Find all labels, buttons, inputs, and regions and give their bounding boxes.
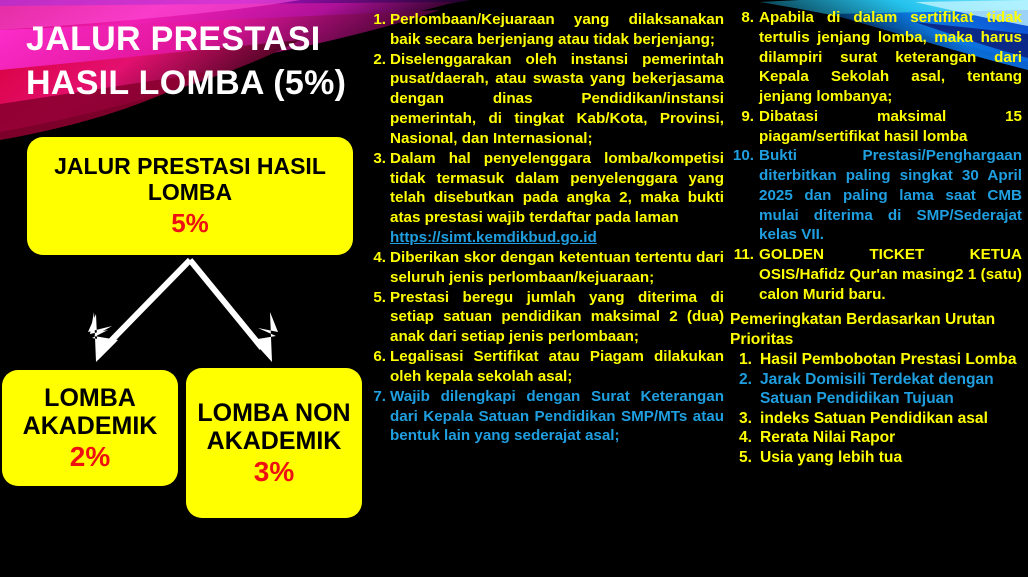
- list-item-text: Diberikan skor dengan ketentuan tertentu…: [390, 248, 724, 288]
- list-item-number: 3.: [368, 149, 386, 169]
- flow-box-lomba-non-akademik[interactable]: LOMBA NON AKADEMIK 3%: [186, 368, 362, 518]
- flow-box-root-label: JALUR PRESTASI HASIL LOMBA: [41, 154, 339, 206]
- list-item: 1. Perlombaan/Kejuaraan yang dilaksanaka…: [368, 10, 724, 50]
- list-item-number: 11.: [730, 245, 754, 265]
- requirements-list-column-2: 8. Apabila di dalam sertifikat tidak ter…: [730, 8, 1022, 468]
- list-item: 7. Wajib dilengkapi dengan Surat Keteran…: [368, 387, 724, 446]
- list-item: 2. Diselenggarakan oleh instansi pemerin…: [368, 50, 724, 149]
- priority-ranking-heading: Pemeringkatan Berdasarkan Urutan Priorit…: [730, 310, 1022, 349]
- slide-canvas: JALUR PRESTASI HASIL LOMBA (5%) JALUR PR…: [0, 0, 1028, 577]
- priority-list-item: 4. Rerata Nilai Rapor: [730, 428, 1022, 448]
- simt-kemdikbud-link[interactable]: https://simt.kemdikbud.go.id: [390, 228, 724, 248]
- list-item-text: Wajib dilengkapi dengan Surat Keterangan…: [390, 387, 724, 446]
- priority-list-item-number: 3.: [730, 409, 752, 429]
- list-item: 3. Dalam hal penyelenggara lomba/kompeti…: [368, 149, 724, 248]
- list-item-number: 6.: [368, 347, 386, 367]
- flow-box-root[interactable]: JALUR PRESTASI HASIL LOMBA 5%: [27, 137, 353, 255]
- title-line-1: JALUR PRESTASI: [26, 18, 366, 62]
- list-item-text: Bukti Prestasi/Penghargaan diterbitkan p…: [759, 146, 1022, 245]
- priority-list-item-text: Hasil Pembobotan Prestasi Lomba: [760, 350, 1022, 370]
- list-item-text: Prestasi beregu jumlah yang diterima di …: [390, 288, 724, 347]
- list-item-text: Diselenggarakan oleh instansi pemerintah…: [390, 50, 724, 149]
- flow-box-lomba-akademik-percent: 2%: [70, 442, 110, 473]
- list-item: 4. Diberikan skor dengan ketentuan terte…: [368, 248, 724, 288]
- list-item-text: Legalisasi Sertifikat atau Piagam dilaku…: [390, 347, 724, 387]
- page-title: JALUR PRESTASI HASIL LOMBA (5%): [26, 18, 366, 105]
- list-item: 6. Legalisasi Sertifikat atau Piagam dil…: [368, 347, 724, 387]
- list-item: 11. GOLDEN TICKET KETUA OSIS/Hafidz Qur'…: [730, 245, 1022, 304]
- list-item-number: 2.: [368, 50, 386, 70]
- list-item-number: 7.: [368, 387, 386, 407]
- priority-list-item: 5. Usia yang lebih tua: [730, 448, 1022, 468]
- list-item-number: 5.: [368, 288, 386, 308]
- priority-list-item-text: Rerata Nilai Rapor: [760, 428, 1022, 448]
- priority-list-item-number: 4.: [730, 428, 752, 448]
- flow-box-lomba-non-akademik-percent: 3%: [254, 457, 294, 488]
- flow-box-lomba-akademik[interactable]: LOMBA AKADEMIK 2%: [2, 370, 178, 486]
- list-item-number: 9.: [730, 107, 754, 127]
- list-item-text: GOLDEN TICKET KETUA OSIS/Hafidz Qur'an m…: [759, 245, 1022, 304]
- list-item: 8. Apabila di dalam sertifikat tidak ter…: [730, 8, 1022, 107]
- list-item-number: 1.: [368, 10, 386, 30]
- list-item: 10. Bukti Prestasi/Penghargaan diterbitk…: [730, 146, 1022, 245]
- priority-list-item-text: indeks Satuan Pendidikan asal: [760, 409, 1022, 429]
- priority-list-item: 1. Hasil Pembobotan Prestasi Lomba: [730, 350, 1022, 370]
- priority-list-item-text: Usia yang lebih tua: [760, 448, 1022, 468]
- priority-list-item: 2. Jarak Domisili Terdekat dengan Satuan…: [730, 370, 1022, 409]
- flow-box-root-percent: 5%: [171, 209, 209, 238]
- priority-list-item: 3. indeks Satuan Pendidikan asal: [730, 409, 1022, 429]
- list-item-number: 8.: [730, 8, 754, 28]
- title-line-2: HASIL LOMBA (5%): [26, 62, 366, 106]
- list-item: 5. Prestasi beregu jumlah yang diterima …: [368, 288, 724, 347]
- requirements-list-column-1: 1. Perlombaan/Kejuaraan yang dilaksanaka…: [368, 10, 724, 446]
- flow-box-lomba-non-akademik-label: LOMBA NON AKADEMIK: [194, 399, 354, 455]
- priority-list-item-number: 1.: [730, 350, 752, 370]
- flow-box-lomba-akademik-label: LOMBA AKADEMIK: [10, 384, 170, 440]
- list-item-number: 10.: [730, 146, 754, 166]
- list-item-text: Apabila di dalam sertifikat tidak tertul…: [759, 8, 1022, 107]
- priority-list-item-number: 5.: [730, 448, 752, 468]
- list-item-text: Dibatasi maksimal 15 piagam/sertifikat h…: [759, 107, 1022, 147]
- list-item: 9. Dibatasi maksimal 15 piagam/sertifika…: [730, 107, 1022, 147]
- list-item-text-body: Dalam hal penyelenggara lomba/kompetisi …: [390, 150, 724, 226]
- list-item-text: Perlombaan/Kejuaraan yang dilaksanakan b…: [390, 10, 724, 50]
- list-item-number: 4.: [368, 248, 386, 268]
- priority-list-item-text: Jarak Domisili Terdekat dengan Satuan Pe…: [760, 370, 1022, 409]
- list-item-text: Dalam hal penyelenggara lomba/kompetisi …: [390, 149, 724, 248]
- priority-list-item-number: 2.: [730, 370, 752, 390]
